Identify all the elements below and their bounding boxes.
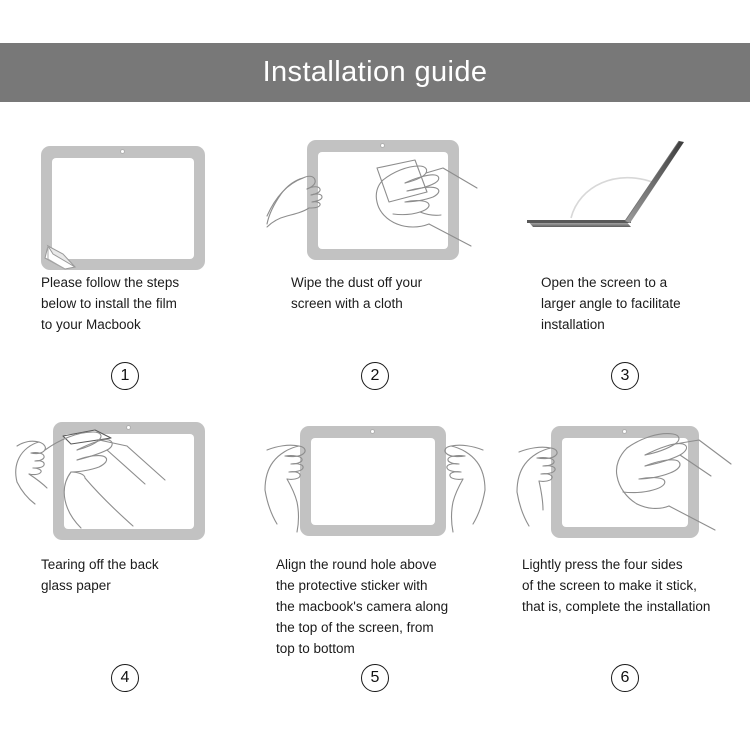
caption-line: that is, complete the installation <box>522 596 732 617</box>
step-number-badge-2: 2 <box>361 362 389 390</box>
caption-line: the top of the screen, from <box>276 617 480 638</box>
caption-line: glass paper <box>41 575 223 596</box>
step-badge-wrap-5: 5 <box>250 664 500 692</box>
header-banner: Installation guide <box>0 43 750 102</box>
caption-line: of the screen to make it stick, <box>522 575 732 596</box>
installation-guide-page: Installation guide <box>0 0 750 750</box>
steps-row-top: Please follow the steps below to install… <box>0 120 750 402</box>
step-badge-wrap-6: 6 <box>500 664 750 692</box>
illustration-step-1 <box>15 128 235 258</box>
caption-line: below to install the film <box>41 293 223 314</box>
illustration-step-3 <box>515 128 735 258</box>
step-badge-wrap-4: 4 <box>0 664 250 692</box>
step-caption-4: Tearing off the back glass paper <box>27 554 223 596</box>
caption-line: installation <box>541 314 723 335</box>
step-cell-6: Lightly press the four sides of the scre… <box>500 402 750 702</box>
step-cell-5: Align the round hole above the protectiv… <box>250 402 500 702</box>
step-cell-1: Please follow the steps below to install… <box>0 120 250 402</box>
illustration-step-4 <box>15 410 235 540</box>
hands-wiping-icon <box>265 128 485 278</box>
caption-line: the macbook's camera along <box>276 596 480 617</box>
caption-line: the protective sticker with <box>276 575 480 596</box>
steps-row-bottom: Tearing off the back glass paper 4 <box>0 402 750 702</box>
step-number-badge-1: 1 <box>111 362 139 390</box>
hand-tearing-film-icon <box>15 410 235 560</box>
step-caption-6: Lightly press the four sides of the scre… <box>518 554 732 617</box>
step-badge-wrap-3: 3 <box>500 362 750 390</box>
step-caption-3: Open the screen to a larger angle to fac… <box>527 272 723 335</box>
illustration-step-2 <box>265 128 485 258</box>
step-badge-wrap-2: 2 <box>250 362 500 390</box>
illustration-step-6 <box>515 410 735 540</box>
peeling-film-corner-icon <box>15 128 235 278</box>
page-title: Installation guide <box>263 56 488 89</box>
step-number-badge-4: 4 <box>111 664 139 692</box>
step-cell-2: Wipe the dust off your screen with a clo… <box>250 120 500 402</box>
hand-pressing-film-icon <box>515 410 735 560</box>
illustration-step-5 <box>265 410 485 540</box>
two-hands-holding-film-icon <box>265 410 485 560</box>
step-number-badge-3: 3 <box>611 362 639 390</box>
caption-line: screen with a cloth <box>291 293 473 314</box>
step-caption-1: Please follow the steps below to install… <box>27 272 223 335</box>
step-cell-3: Open the screen to a larger angle to fac… <box>500 120 750 402</box>
caption-line: top to bottom <box>276 638 480 659</box>
caption-line: to your Macbook <box>41 314 223 335</box>
caption-line: larger angle to facilitate <box>541 293 723 314</box>
step-caption-2: Wipe the dust off your screen with a clo… <box>277 272 473 314</box>
laptop-opening-angle-icon <box>515 128 735 278</box>
steps-grid: Please follow the steps below to install… <box>0 120 750 702</box>
step-number-badge-5: 5 <box>361 664 389 692</box>
step-caption-5: Align the round hole above the protectiv… <box>270 554 480 659</box>
step-number-badge-6: 6 <box>611 664 639 692</box>
step-badge-wrap-1: 1 <box>0 362 250 390</box>
step-cell-4: Tearing off the back glass paper 4 <box>0 402 250 702</box>
